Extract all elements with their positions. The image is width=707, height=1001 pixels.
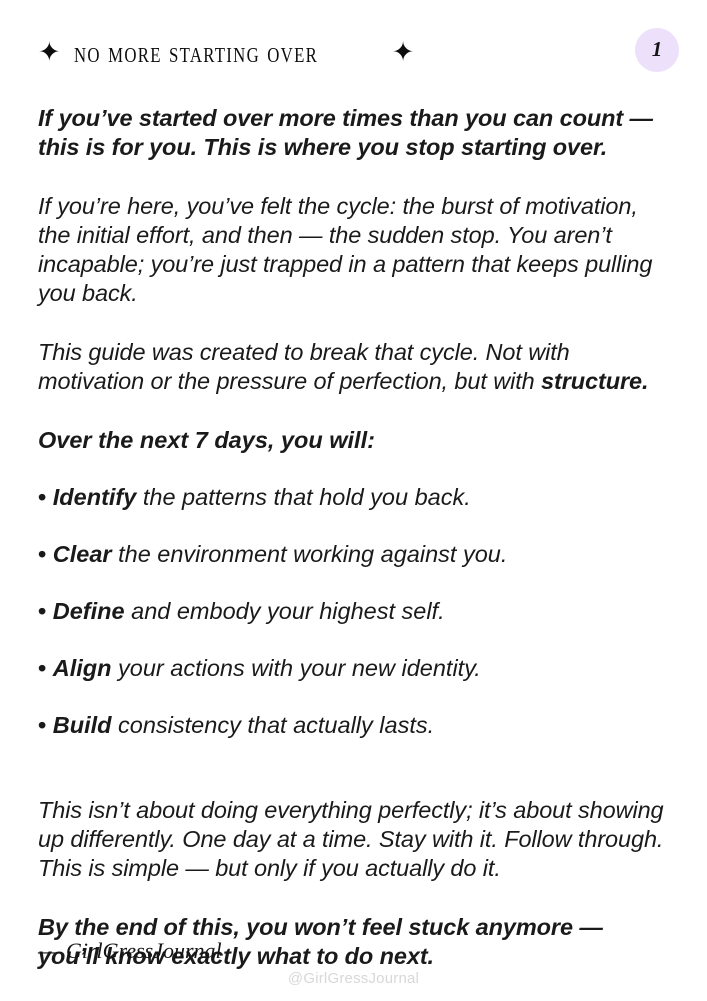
page-number-badge: 1 — [635, 28, 679, 72]
page-header: ✦ No More Starting Over ✦ 1 — [0, 0, 707, 100]
guide-paragraph: This guide was created to break that cyc… — [38, 338, 666, 396]
list-item: • Clear the environment working against … — [38, 540, 666, 569]
bullet-icon: • — [38, 712, 46, 738]
signature-dash: — — [38, 938, 60, 963]
signature-name: GirlGressJournal — [66, 938, 222, 963]
closing-paragraph: This isn’t about doing everything perfec… — [38, 796, 666, 883]
bullet-icon: • — [38, 598, 46, 624]
sparkle-right-icon: ✦ — [392, 39, 415, 66]
sparkle-left-icon: ✦ — [38, 39, 61, 66]
bullet-icon: • — [38, 484, 46, 510]
list-item-lead: Build — [53, 712, 112, 738]
page-content: If you’ve started over more times than y… — [38, 104, 666, 1001]
list-item: • Define and embody your highest self. — [38, 597, 666, 626]
outcomes-list: • Identify the patterns that hold you ba… — [38, 483, 666, 740]
page-root: ✦ No More Starting Over ✦ 1 If you’ve st… — [0, 0, 707, 1000]
page-number-text: 1 — [652, 39, 663, 60]
cycle-paragraph: If you’re here, you’ve felt the cycle: t… — [38, 192, 666, 308]
list-item-rest: consistency that actually lasts. — [112, 712, 435, 738]
list-item-rest: your actions with your new identity. — [112, 655, 481, 681]
list-item: • Build consistency that actually lasts. — [38, 711, 666, 740]
list-item-rest: the patterns that hold you back. — [136, 484, 470, 510]
list-item: • Align your actions with your new ident… — [38, 654, 666, 683]
signature: —GirlGressJournal — [38, 940, 222, 962]
list-item-lead: Identify — [53, 484, 137, 510]
list-item-lead: Define — [53, 598, 125, 624]
guide-paragraph-text: This guide was created to break that cyc… — [38, 339, 570, 394]
watermark: @GirlGressJournal — [0, 971, 707, 986]
page-title-text: No More Starting Over — [74, 38, 318, 68]
intro-paragraph: If you’ve started over more times than y… — [38, 104, 666, 162]
list-item-rest: and embody your highest self. — [125, 598, 445, 624]
page-title: ✦ No More Starting Over ✦ — [38, 38, 414, 68]
list-item-lead: Clear — [53, 541, 112, 567]
bullet-icon: • — [38, 655, 46, 681]
list-item-lead: Align — [53, 655, 112, 681]
list-item: • Identify the patterns that hold you ba… — [38, 483, 666, 512]
structure-emphasis: structure. — [541, 368, 648, 394]
bullet-icon: • — [38, 541, 46, 567]
list-item-rest: the environment working against you. — [112, 541, 508, 567]
section-heading: Over the next 7 days, you will: — [38, 426, 666, 455]
spacer — [38, 768, 666, 796]
